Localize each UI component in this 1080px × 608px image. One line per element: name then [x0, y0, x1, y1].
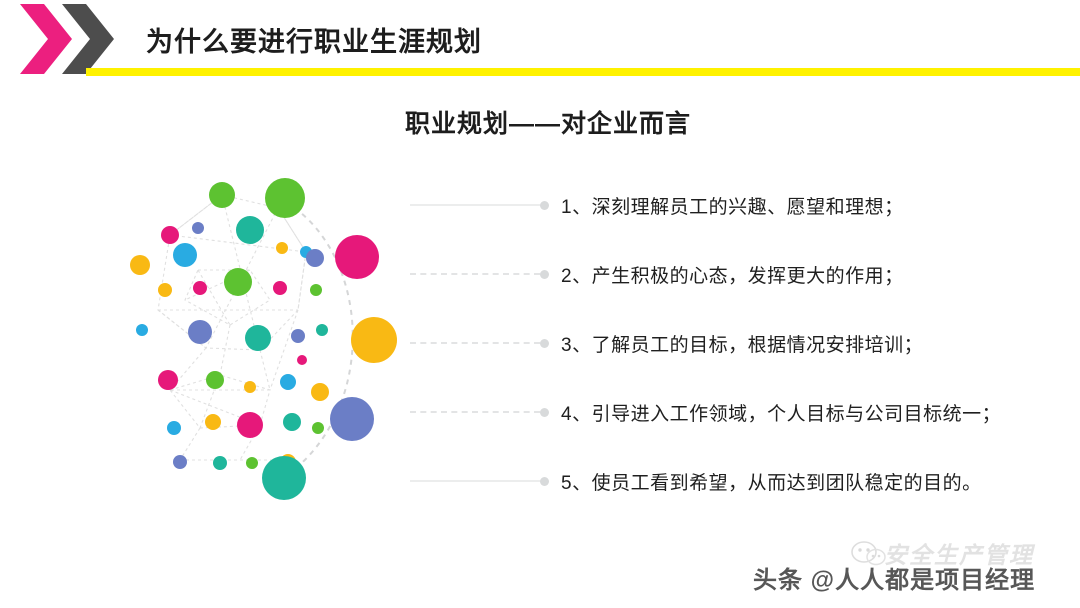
benefits-list: 1、深刻理解员工的兴趣、愿望和理想； 2、产生积极的心态，发挥更大的作用； 3、… — [410, 176, 1060, 496]
list-item-label: 1、深刻理解员工的兴趣、愿望和理想； — [561, 192, 904, 219]
list-item: 1、深刻理解员工的兴趣、愿望和理想； — [410, 188, 1060, 222]
list-item-label: 5、使员工看到希望，从而达到团队稳定的目的。 — [561, 468, 982, 495]
bullet-dot-icon — [540, 270, 549, 279]
bullet-dot-icon — [540, 477, 549, 486]
bullet-dot-icon — [540, 201, 549, 210]
arc-node-green[interactable] — [265, 178, 305, 218]
header-chevron-group — [18, 2, 148, 78]
arc-node-orange[interactable] — [351, 317, 397, 363]
list-item-label: 2、产生积极的心态，发挥更大的作用； — [561, 261, 904, 288]
list-item: 4、引导进入工作领域，个人目标与公司目标统一； — [410, 395, 1060, 429]
network-diagram — [110, 160, 430, 510]
connector-line-icon — [410, 411, 540, 413]
connector-line-icon — [410, 273, 540, 275]
list-item: 2、产生积极的心态，发挥更大的作用； — [410, 257, 1060, 291]
list-item-label: 3、了解员工的目标，根据情况安排培训； — [561, 330, 923, 357]
arc-node-teal[interactable] — [262, 456, 306, 500]
bullet-dot-icon — [540, 339, 549, 348]
arc-node-purple[interactable] — [330, 397, 374, 441]
page-title: 为什么要进行职业生涯规划 — [146, 20, 482, 59]
header-underline — [86, 68, 1080, 76]
bullet-dot-icon — [540, 408, 549, 417]
arc-node-pink[interactable] — [335, 235, 379, 279]
slide-header: 为什么要进行职业生涯规划 — [0, 0, 1080, 86]
list-item-label: 4、引导进入工作领域，个人目标与公司目标统一； — [561, 399, 1001, 426]
section-subtitle: 职业规划——对企业而言 — [0, 104, 1080, 140]
connector-line-icon — [410, 342, 540, 344]
chevron-right-dark-icon — [60, 2, 116, 76]
list-item: 3、了解员工的目标，根据情况安排培训； — [410, 326, 1060, 360]
connector-line-icon — [410, 204, 540, 206]
connector-line-icon — [410, 480, 540, 482]
slide-root: 为什么要进行职业生涯规划 职业规划——对企业而言 — [0, 0, 1080, 608]
watermark-main: 头条 @人人都是项目经理 — [753, 560, 1035, 595]
list-item: 5、使员工看到希望，从而达到团队稳定的目的。 — [410, 464, 1060, 498]
